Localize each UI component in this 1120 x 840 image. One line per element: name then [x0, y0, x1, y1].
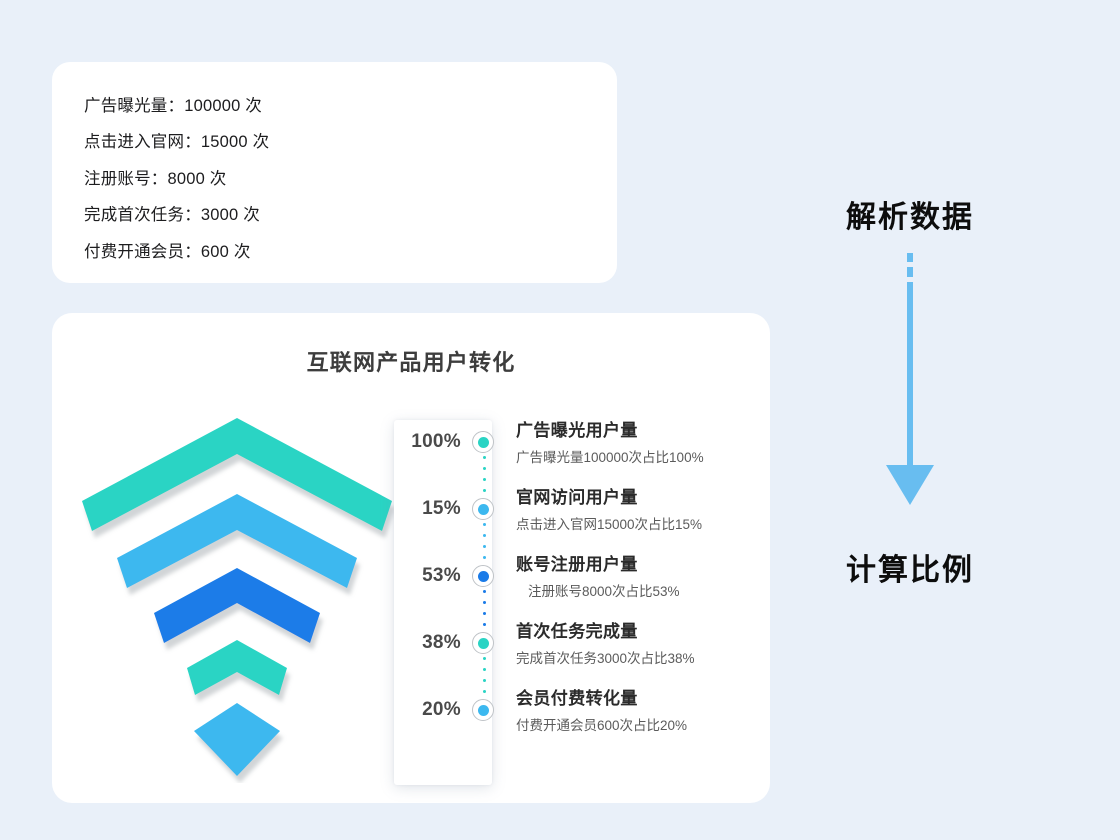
legend-percent: 20%	[394, 699, 472, 721]
dot	[483, 545, 486, 548]
legend-text-group: 账号注册用户量 注册账号8000次占比53%	[516, 550, 680, 600]
legend-dot-icon	[478, 638, 489, 649]
legend-description: 注册账号8000次占比53%	[516, 580, 680, 600]
legend-percent: 100%	[394, 431, 472, 453]
legend-dot-icon	[478, 437, 489, 448]
legend-title: 广告曝光用户量	[516, 416, 704, 441]
legend-item[interactable]: 53% 账号注册用户量 注册账号8000次占比53%	[394, 561, 770, 591]
funnel-segment-4	[187, 640, 287, 695]
legend-item[interactable]: 38% 首次任务完成量 完成首次任务3000次占比38%	[394, 628, 770, 658]
source-data-line: 广告曝光量：100000 次	[84, 88, 617, 124]
legend-marker-icon[interactable]	[472, 565, 494, 587]
legend-percent: 15%	[394, 498, 472, 520]
legend-text-group: 首次任务完成量 完成首次任务3000次占比38%	[516, 617, 695, 667]
flow-step-parse-data-label: 解析数据	[770, 192, 1050, 236]
legend-dot-icon	[478, 571, 489, 582]
dot	[483, 478, 486, 481]
legend-description: 完成首次任务3000次占比38%	[516, 647, 695, 667]
legend-dot-icon	[478, 705, 489, 716]
flow-step-calc-ratio-label: 计算比例	[770, 545, 1050, 589]
dot	[483, 679, 486, 682]
source-data-line: 付费开通会员：600 次	[84, 234, 617, 270]
legend-title: 官网访问用户量	[516, 483, 702, 508]
legend-list: 100% 广告曝光用户量 广告曝光量100000次占比100% 15% 官网访问…	[394, 420, 770, 785]
legend-description: 点击进入官网15000次占比15%	[516, 513, 702, 533]
funnel-chart-graphic	[72, 413, 402, 783]
dot	[483, 556, 486, 559]
legend-item[interactable]: 15% 官网访问用户量 点击进入官网15000次占比15%	[394, 494, 770, 524]
page-title: 互联网产品用户转化	[52, 345, 770, 377]
dot	[483, 467, 486, 470]
legend-title: 会员付费转化量	[516, 684, 687, 709]
legend-percent: 53%	[394, 565, 472, 587]
source-data-line: 注册账号：8000 次	[84, 161, 617, 197]
source-data-line: 完成首次任务：3000 次	[84, 197, 617, 233]
legend-title: 首次任务完成量	[516, 617, 695, 642]
dot	[483, 612, 486, 615]
legend-dot-icon	[478, 504, 489, 515]
legend-text-group: 广告曝光用户量 广告曝光量100000次占比100%	[516, 416, 704, 466]
dot	[483, 534, 486, 537]
source-data-card: 广告曝光量：100000 次 点击进入官网：15000 次 注册账号：8000 …	[52, 62, 617, 283]
funnel-segment-5	[194, 703, 280, 776]
source-data-line: 点击进入官网：15000 次	[84, 124, 617, 160]
dot	[483, 601, 486, 604]
dot	[483, 489, 486, 492]
dot	[483, 668, 486, 671]
legend-description: 广告曝光量100000次占比100%	[516, 446, 704, 466]
legend-marker-icon[interactable]	[472, 498, 494, 520]
legend-marker-icon[interactable]	[472, 431, 494, 453]
legend-title: 账号注册用户量	[516, 550, 680, 575]
down-arrow-icon	[870, 253, 950, 508]
legend-text-group: 会员付费转化量 付费开通会员600次占比20%	[516, 684, 687, 734]
dot	[483, 623, 486, 626]
funnel-chart-card: 互联网产品用户转化	[52, 313, 770, 803]
legend-text-group: 官网访问用户量 点击进入官网15000次占比15%	[516, 483, 702, 533]
legend-description: 付费开通会员600次占比20%	[516, 714, 687, 734]
legend-marker-icon[interactable]	[472, 699, 494, 721]
legend-item[interactable]: 20% 会员付费转化量 付费开通会员600次占比20%	[394, 695, 770, 725]
legend-marker-icon[interactable]	[472, 632, 494, 654]
dot	[483, 690, 486, 693]
legend-item[interactable]: 100% 广告曝光用户量 广告曝光量100000次占比100%	[394, 427, 770, 457]
legend-percent: 38%	[394, 632, 472, 654]
funnel-segment-3	[154, 568, 320, 643]
